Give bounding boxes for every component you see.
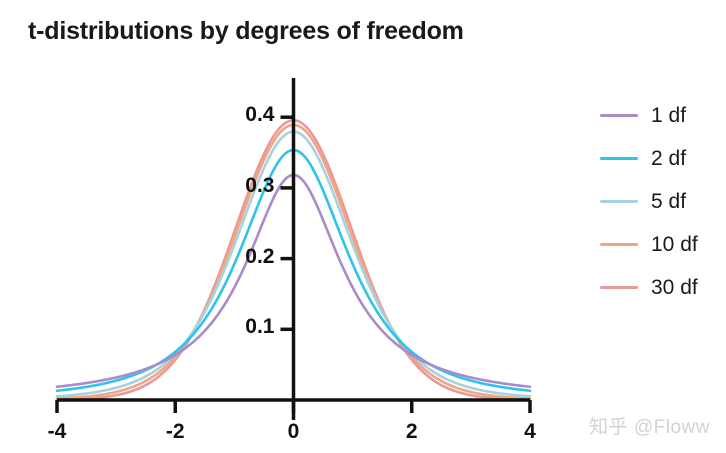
- axes-group: [57, 78, 530, 420]
- y-tick-label: 0.4: [199, 103, 275, 127]
- legend-item-label: 5 df: [651, 190, 686, 214]
- legend-item-label: 1 df: [651, 104, 686, 128]
- legend-swatch-icon: [600, 243, 638, 246]
- legend-swatch-icon: [600, 286, 638, 289]
- y-tick-label: 0.1: [199, 315, 275, 339]
- watermark: 知乎 @Floww: [589, 412, 710, 439]
- plot-area: -4-2024 0.10.20.30.4: [0, 0, 580, 453]
- legend-item-5-df[interactable]: 5 df: [600, 180, 726, 223]
- legend-item-label: 10 df: [651, 233, 698, 257]
- x-tick-label: -4: [27, 420, 87, 444]
- x-axis-ticks: [57, 400, 530, 413]
- x-tick-label: -2: [145, 420, 205, 444]
- legend-item-1-df[interactable]: 1 df: [600, 94, 726, 137]
- legend-swatch-icon: [600, 114, 638, 117]
- plot-svg: [0, 0, 580, 453]
- legend-item-label: 2 df: [651, 147, 686, 171]
- chart-container: t-distributions by degrees of freedom -4…: [0, 0, 726, 453]
- legend-item-10-df[interactable]: 10 df: [600, 223, 726, 266]
- legend-item-2-df[interactable]: 2 df: [600, 137, 726, 180]
- x-tick-label: 4: [500, 420, 560, 444]
- chart-legend: 1 df2 df5 df10 df30 df: [600, 94, 726, 309]
- x-tick-label: 2: [382, 420, 442, 444]
- legend-item-30-df[interactable]: 30 df: [600, 266, 726, 309]
- legend-swatch-icon: [600, 157, 638, 160]
- legend-swatch-icon: [600, 200, 638, 203]
- y-tick-label: 0.3: [199, 174, 275, 198]
- legend-item-label: 30 df: [651, 276, 698, 300]
- x-tick-label: 0: [264, 420, 324, 444]
- y-tick-label: 0.2: [199, 245, 275, 269]
